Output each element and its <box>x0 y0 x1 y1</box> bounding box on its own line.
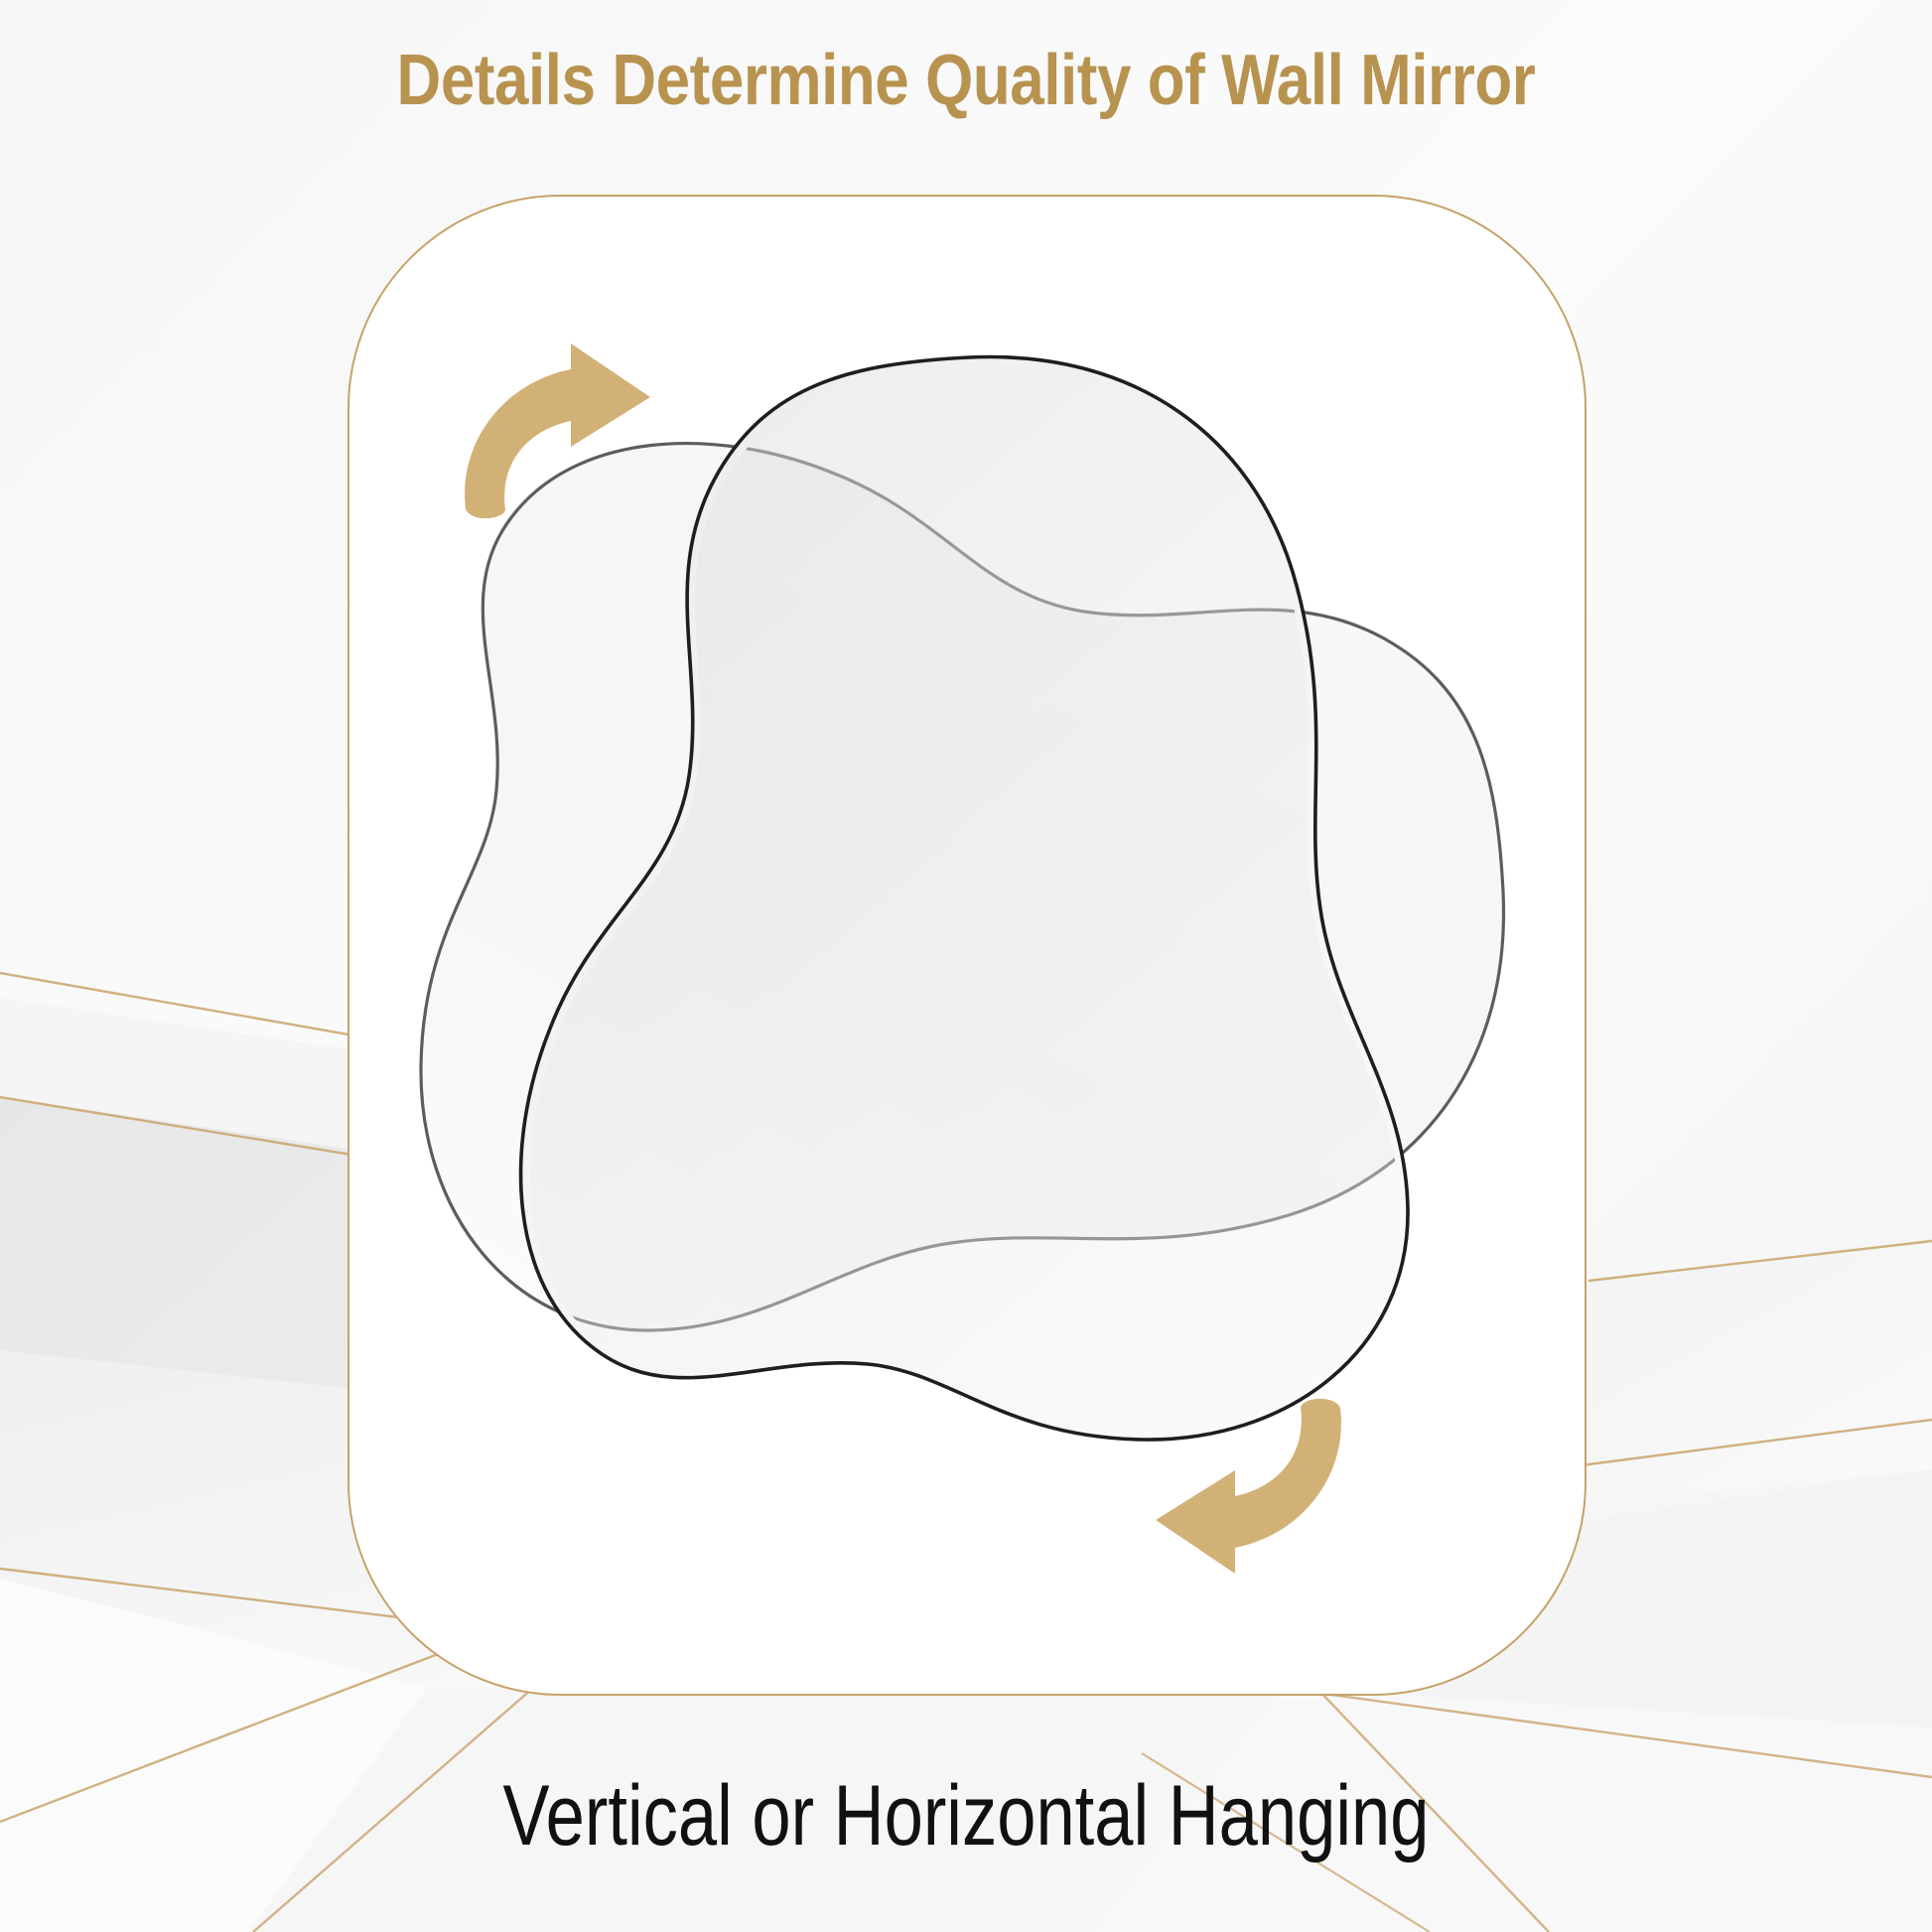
accent-line-8 <box>1281 1688 1932 1777</box>
rotate-arrow-bottom-icon <box>1134 1393 1362 1591</box>
product-card <box>347 195 1587 1696</box>
poster-canvas: Details Determine Quality of Wall Mirror <box>0 0 1932 1932</box>
bg-panel-left-bottom <box>0 1579 427 1932</box>
rotate-arrow-top-icon <box>444 326 672 524</box>
hanging-orientation-caption: Vertical or Horizontal Hanging <box>174 1769 1758 1863</box>
mirror-illustration-area <box>349 197 1588 1698</box>
accent-line-6 <box>1588 1241 1932 1281</box>
bg-panel-right-upper <box>1549 1246 1932 1509</box>
page-title: Details Determine Quality of Wall Mirror <box>135 44 1797 119</box>
